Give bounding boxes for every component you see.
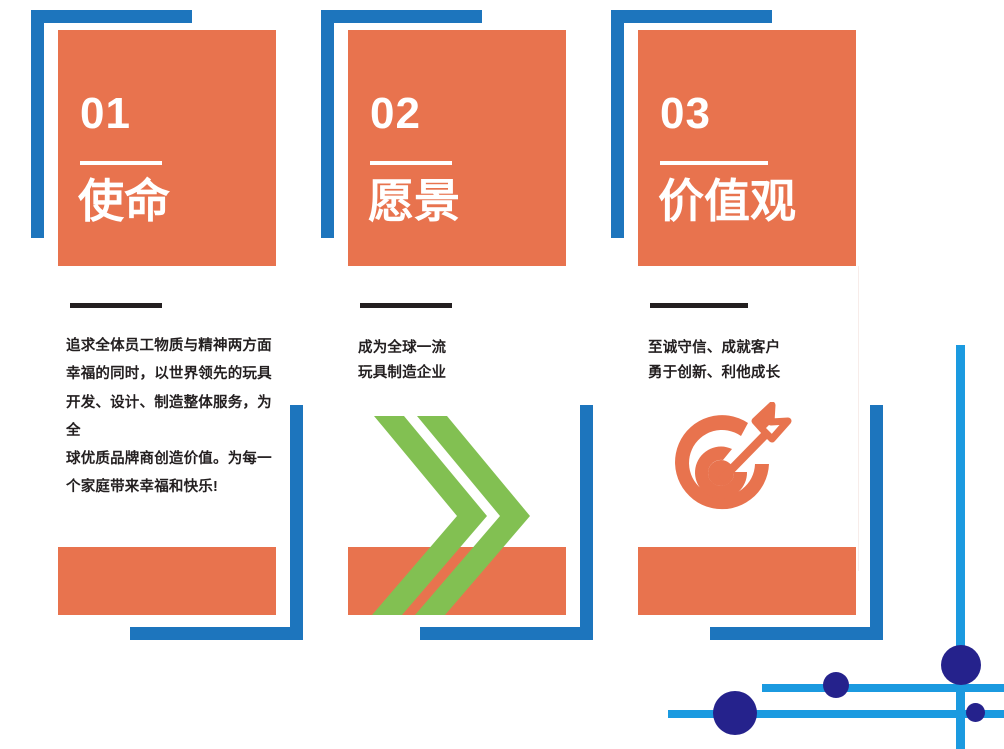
card-1-divider-rule bbox=[80, 161, 162, 165]
card-3-divider-rule bbox=[660, 161, 768, 165]
bracket-horizontal-bar bbox=[31, 10, 192, 23]
card-3-footer-bar bbox=[638, 547, 856, 615]
card-3-number: 03 bbox=[660, 92, 711, 136]
card-3-title: 价值观 bbox=[658, 178, 796, 224]
card-2-orange-block: 02 愿景 bbox=[348, 30, 566, 266]
card-1-orange-block: 01 使命 bbox=[58, 30, 276, 266]
card-1-number: 01 bbox=[80, 92, 131, 136]
card-1-title: 使命 bbox=[78, 178, 170, 224]
card-1-body-rule bbox=[70, 303, 162, 308]
card-1-body-line: 幸福的同时，以世界领先的玩具 bbox=[66, 360, 276, 388]
card-2-divider-rule bbox=[370, 161, 452, 165]
bracket-vertical-bar bbox=[870, 405, 883, 640]
card-2-title: 愿景 bbox=[368, 178, 460, 224]
card-2-body-text: 成为全球一流 玩具制造企业 bbox=[358, 336, 568, 387]
card-3-body-rule bbox=[650, 303, 748, 308]
bracket-horizontal-bar bbox=[420, 627, 593, 640]
bracket-horizontal-bar bbox=[611, 10, 772, 23]
bracket-vertical-bar bbox=[31, 10, 44, 238]
bracket-vertical-bar bbox=[611, 10, 624, 238]
card-2-body-line: 玩具制造企业 bbox=[358, 361, 568, 386]
deco-dot-small bbox=[966, 703, 985, 722]
card-3-body-text: 至诚守信、成就客户 勇于创新、利他成长 bbox=[648, 336, 868, 387]
card-1-body-line: 追求全体员工物质与精神两方面 bbox=[66, 332, 276, 360]
card-2-number: 02 bbox=[370, 92, 421, 136]
deco-dot-medium bbox=[823, 672, 849, 698]
card-1-footer-bar bbox=[58, 547, 276, 615]
bracket-horizontal-bar bbox=[321, 10, 482, 23]
bracket-vertical-bar bbox=[580, 405, 593, 640]
double-chevron-right-icon bbox=[362, 408, 552, 623]
deco-dot-large-left bbox=[713, 691, 757, 735]
bracket-vertical-bar bbox=[290, 405, 303, 640]
card-3-body-line: 勇于创新、利他成长 bbox=[648, 361, 868, 386]
card-2-body-rule bbox=[360, 303, 452, 308]
bracket-horizontal-bar bbox=[130, 627, 303, 640]
bracket-vertical-bar bbox=[321, 10, 334, 238]
slide-canvas: 01 使命 追求全体员工物质与精神两方面 幸福的同时，以世界领先的玩具 开发、设… bbox=[0, 0, 1004, 749]
deco-horizontal-line-upper bbox=[762, 684, 1004, 692]
card-3-body-line: 至诚守信、成就客户 bbox=[648, 336, 868, 361]
card-3-orange-block: 03 价值观 bbox=[638, 30, 856, 266]
bracket-horizontal-bar bbox=[710, 627, 883, 640]
card-2-body-line: 成为全球一流 bbox=[358, 336, 568, 361]
deco-dot-large-right bbox=[941, 645, 981, 685]
target-with-arrow-icon bbox=[652, 402, 792, 542]
